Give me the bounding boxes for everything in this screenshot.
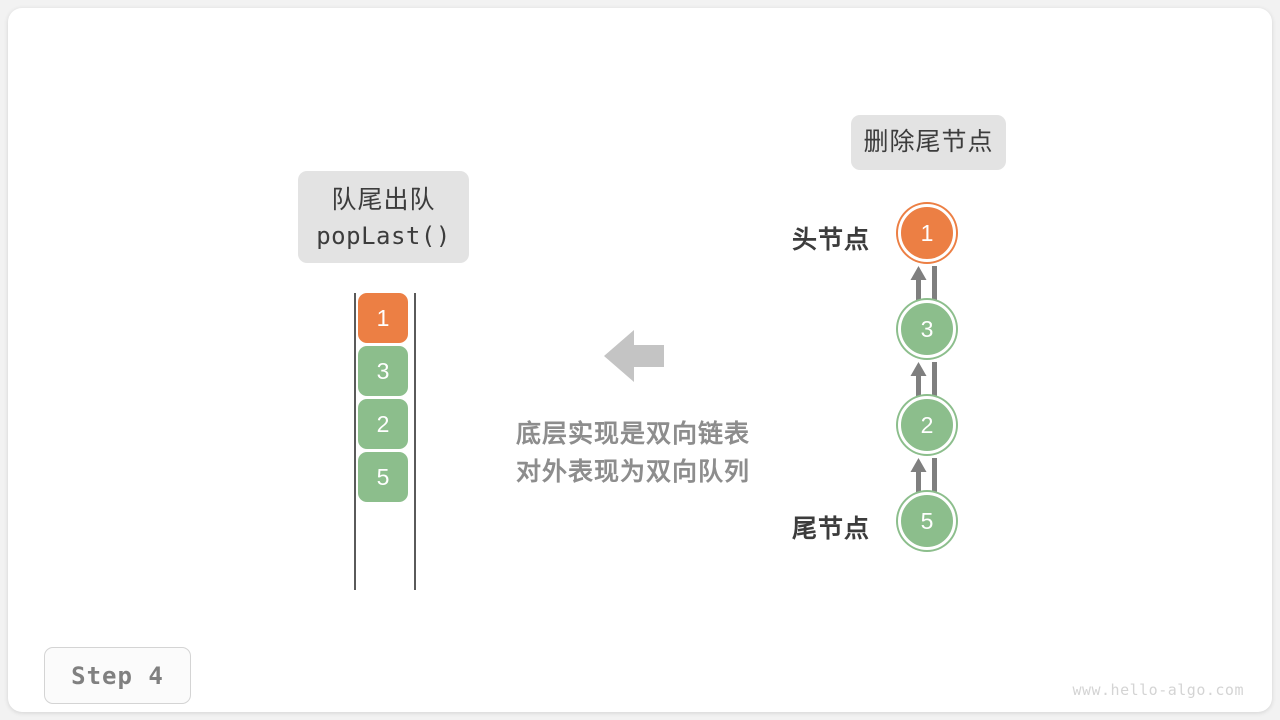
- diagram-caption: 底层实现是双向链表 对外表现为双向队列: [473, 415, 793, 491]
- diagram-caption-line1: 底层实现是双向链表: [473, 415, 793, 453]
- queue-item-value: 2: [377, 411, 390, 438]
- queue-item: 3: [358, 346, 408, 396]
- arrow-left-icon: [604, 328, 664, 384]
- queue-item: 1: [358, 293, 408, 343]
- queue-item: 2: [358, 399, 408, 449]
- step-badge-label: Step 4: [71, 662, 164, 690]
- queue-rail-left: [354, 293, 356, 590]
- queue-visual: 1 3 2 5: [348, 293, 428, 593]
- queue-item-value: 5: [377, 464, 390, 491]
- list-node: 2: [898, 396, 956, 454]
- list-operation-label: 删除尾节点: [851, 115, 1006, 170]
- queue-operation-label: 队尾出队 popLast(): [298, 171, 469, 263]
- list-operation-label-line1: 删除尾节点: [863, 125, 993, 161]
- list-node-tail: 5: [898, 492, 956, 550]
- queue-rail-right: [414, 293, 416, 590]
- list-node-value: 2: [921, 412, 934, 439]
- list-node-value: 5: [921, 508, 934, 535]
- list-node-value: 3: [921, 316, 934, 343]
- head-node-label: 头节点: [792, 220, 870, 256]
- queue-item-value: 1: [377, 305, 390, 332]
- queue-item: 5: [358, 452, 408, 502]
- step-badge: Step 4: [44, 647, 191, 704]
- queue-operation-label-line2: popLast(): [316, 219, 451, 253]
- tail-node-label: 尾节点: [792, 509, 870, 545]
- list-node-head: 1: [898, 204, 956, 262]
- queue-operation-label-line1: 队尾出队: [331, 183, 435, 219]
- diagram-caption-line2: 对外表现为双向队列: [473, 453, 793, 491]
- list-node: 3: [898, 300, 956, 358]
- diagram-card: 队尾出队 popLast() 1 3 2 5: [8, 8, 1272, 712]
- list-node-value: 1: [921, 220, 934, 247]
- canvas-background: 队尾出队 popLast() 1 3 2 5: [0, 0, 1280, 720]
- linked-list-visual: 头节点 尾节点 1 3: [768, 188, 1028, 568]
- watermark: www.hello-algo.com: [1072, 681, 1244, 699]
- queue-item-value: 3: [377, 358, 390, 385]
